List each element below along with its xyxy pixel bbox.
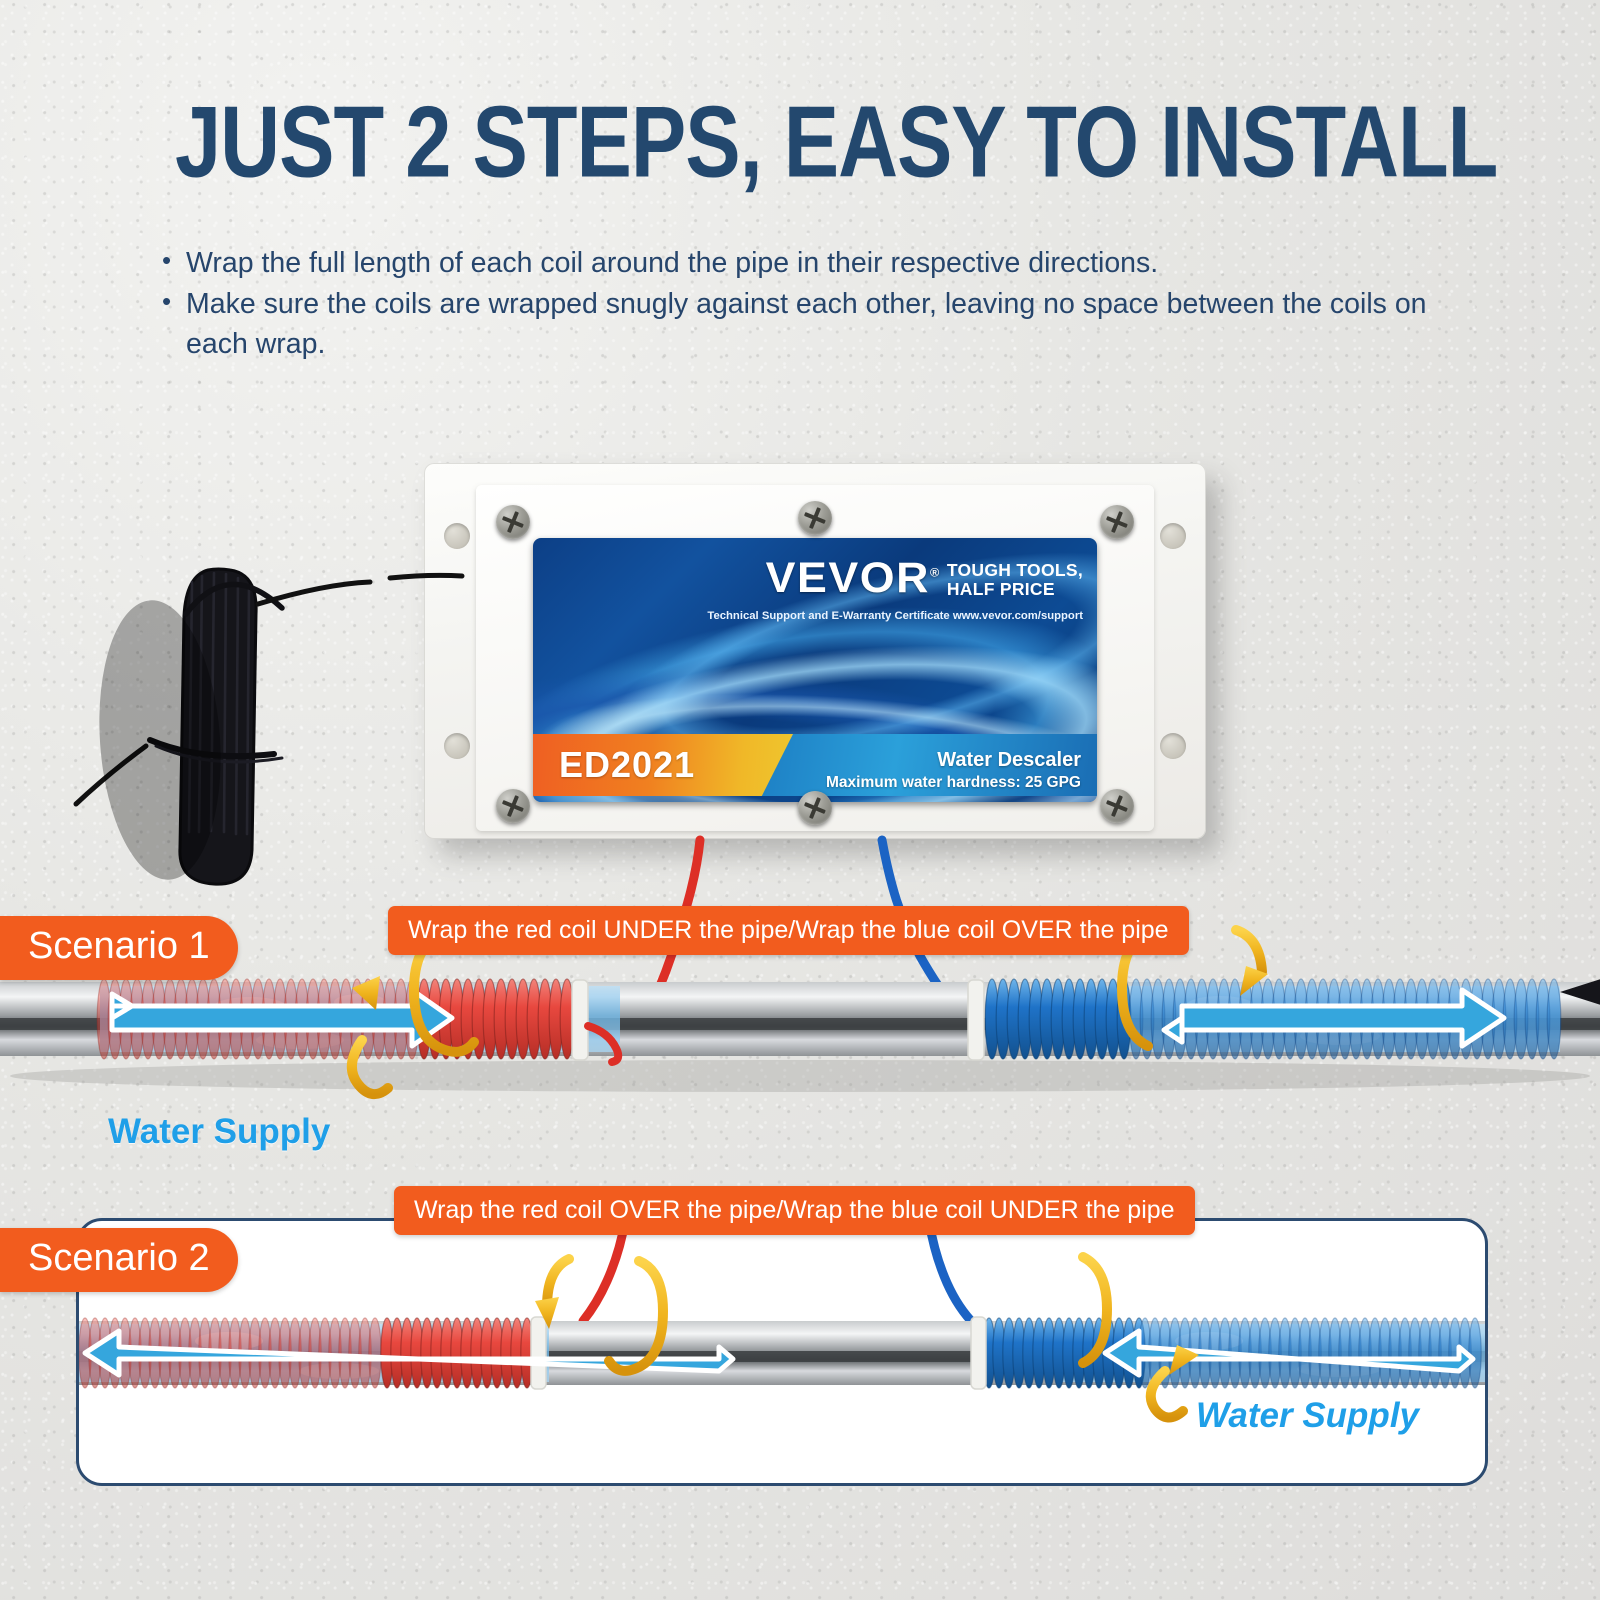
instruction-list: • Wrap the full length of each coil arou… (150, 244, 1470, 366)
scenario-1-badge: Scenario 1 (0, 916, 238, 980)
scenario-2-water-supply-label: Water Supply (1196, 1396, 1419, 1436)
list-item: • Make sure the coils are wrapped snugly… (150, 285, 1470, 364)
model-badge: ED2021 (533, 734, 793, 796)
mount-hole (444, 523, 470, 549)
screw (798, 791, 832, 825)
scenario-2-banner: Wrap the red coil OVER the pipe/Wrap the… (394, 1186, 1195, 1235)
scenario-2-diagram (79, 1221, 1485, 1483)
tagline-line-2: HALF PRICE (947, 580, 1083, 599)
brand-tagline: TOUGH TOOLS, HALF PRICE (947, 558, 1083, 599)
water-descaler-device: VEVOR® TOUGH TOOLS, HALF PRICE Technical… (424, 463, 1206, 839)
mount-hole (1160, 733, 1186, 759)
scenario-2-badge-label: Scenario 2 (28, 1237, 210, 1279)
screw (1100, 505, 1134, 539)
scenario-1-water-supply-label: Water Supply (108, 1112, 330, 1152)
bullet-marker: • (162, 284, 171, 320)
model-number: ED2021 (533, 744, 695, 786)
product-name: Water Descaler (937, 749, 1081, 772)
scenario-2-banner-text: Wrap the red coil OVER the pipe/Wrap the… (414, 1196, 1175, 1224)
list-item-text: Wrap the full length of each coil around… (186, 247, 1158, 279)
page-title: JUST 2 STEPS, EASY TO INSTALL (175, 96, 1425, 189)
brand-block: VEVOR® TOUGH TOOLS, HALF PRICE (769, 558, 1083, 599)
product-spec: Maximum water hardness: 25 GPG (826, 774, 1081, 792)
list-item-text: Make sure the coils are wrapped snugly a… (186, 288, 1427, 359)
tagline-line-1: TOUGH TOOLS, (947, 561, 1083, 580)
scenario-2-badge: Scenario 2 (0, 1228, 238, 1292)
mount-hole (1160, 523, 1186, 549)
power-cable-bundle (90, 540, 370, 890)
screw (1100, 789, 1134, 823)
brand-name: VEVOR (766, 554, 930, 602)
screw (496, 789, 530, 823)
scenario-1-badge-label: Scenario 1 (28, 925, 210, 967)
list-item: • Wrap the full length of each coil arou… (150, 244, 1470, 283)
support-text: Technical Support and E-Warranty Certifi… (707, 610, 1083, 622)
registered-mark-icon: ® (930, 566, 941, 580)
product-label: VEVOR® TOUGH TOOLS, HALF PRICE Technical… (533, 538, 1097, 802)
screw (496, 505, 530, 539)
mount-hole (444, 733, 470, 759)
screw (798, 501, 832, 535)
scenario-1-banner-text: Wrap the red coil UNDER the pipe/Wrap th… (408, 916, 1169, 944)
brand-logo: VEVOR® (766, 558, 941, 599)
scenario-1-banner: Wrap the red coil UNDER the pipe/Wrap th… (388, 906, 1189, 955)
bullet-marker: • (162, 243, 171, 279)
